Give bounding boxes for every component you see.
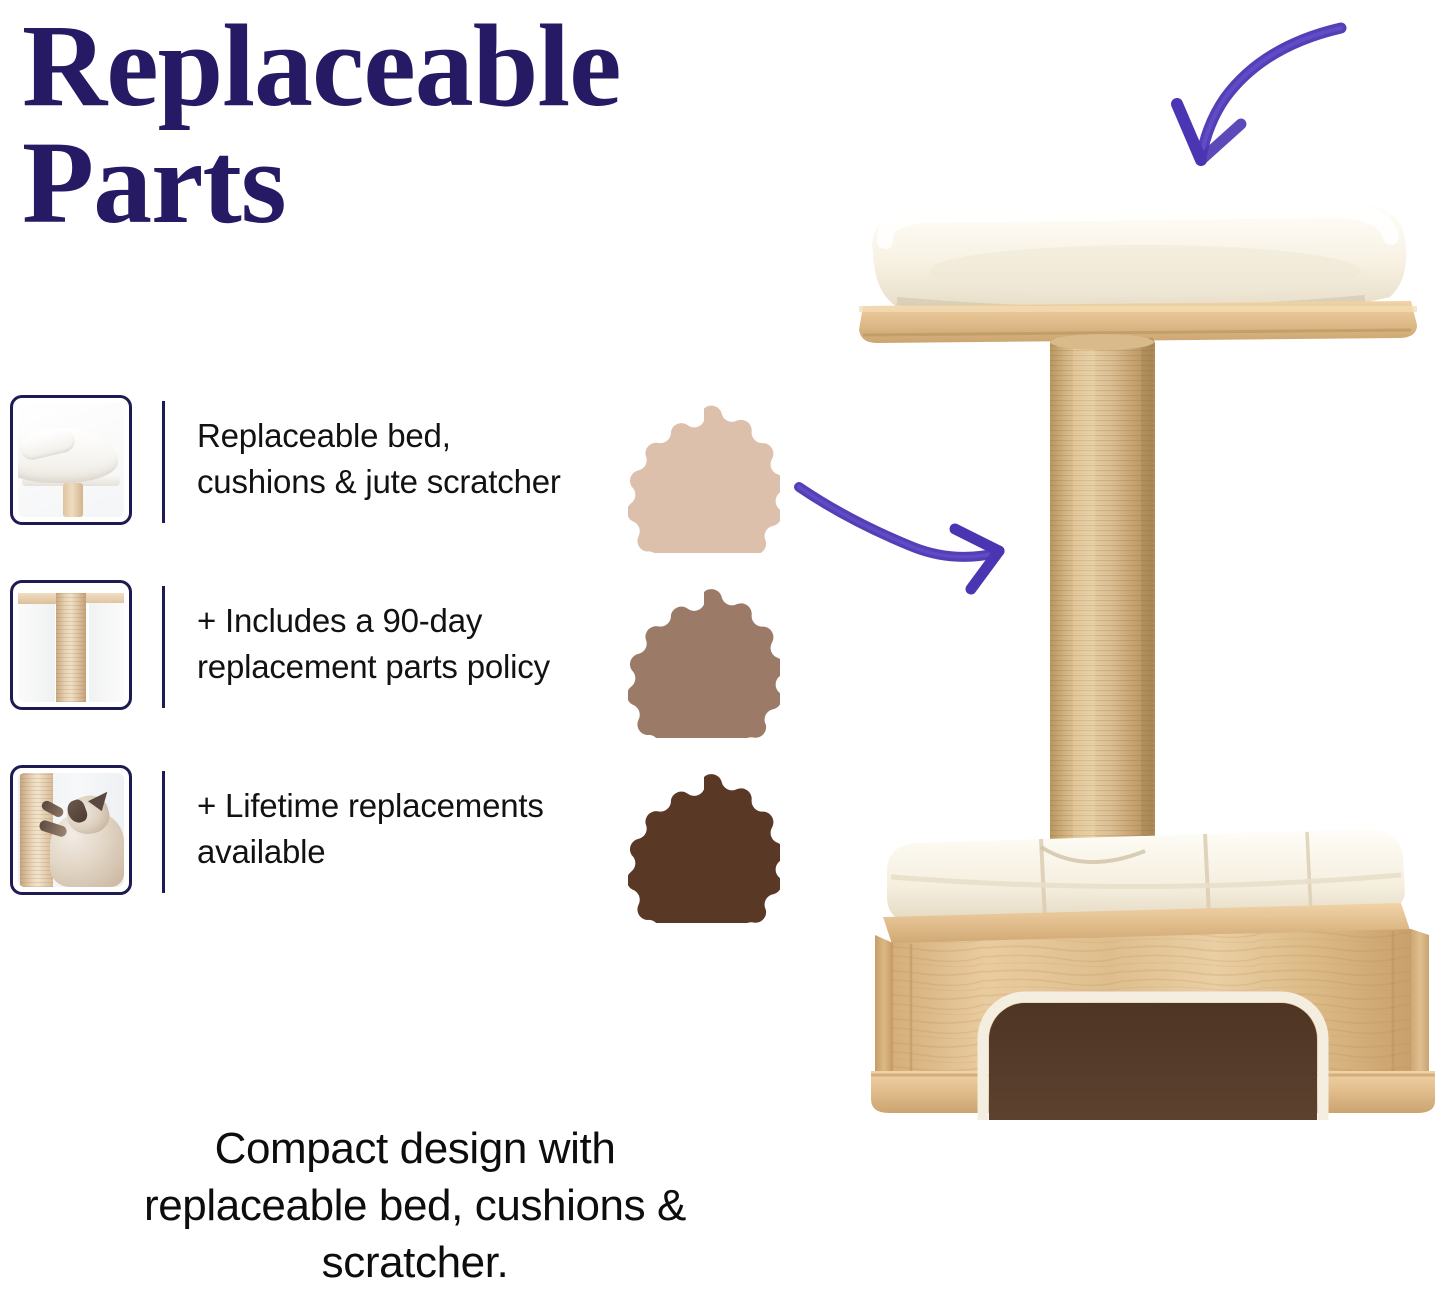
row-divider [162, 401, 165, 523]
swatch-dark-brown [628, 771, 780, 923]
condo-entry-opening [983, 997, 1323, 1120]
feature-row: + Lifetime replacements available [0, 765, 790, 950]
plush-top-bed [872, 203, 1406, 313]
row-divider [162, 586, 165, 708]
thumbnail-cat-scratching [10, 765, 132, 895]
feature-row: Replaceable bed, cushions & jute scratch… [0, 395, 790, 580]
product-image-cat-tree [845, 175, 1445, 1120]
arrow-to-scratching-post [785, 465, 1050, 605]
row-divider [162, 771, 165, 893]
thumbnail-replaceable-bed [10, 395, 132, 525]
arrow-to-top-bed [1145, 0, 1445, 190]
bottom-caption: Compact design with replaceable bed, cus… [10, 1120, 820, 1292]
page-title: Replaceable Parts [22, 8, 812, 242]
swatch-light-tan [628, 401, 780, 553]
feature-list: Replaceable bed, cushions & jute scratch… [0, 395, 790, 950]
thumbnail-jute-post [10, 580, 132, 710]
feature-row: + Includes a 90-day replacement parts po… [0, 580, 790, 765]
swatch-taupe-brown [628, 586, 780, 738]
jute-scratching-post [1049, 334, 1155, 869]
